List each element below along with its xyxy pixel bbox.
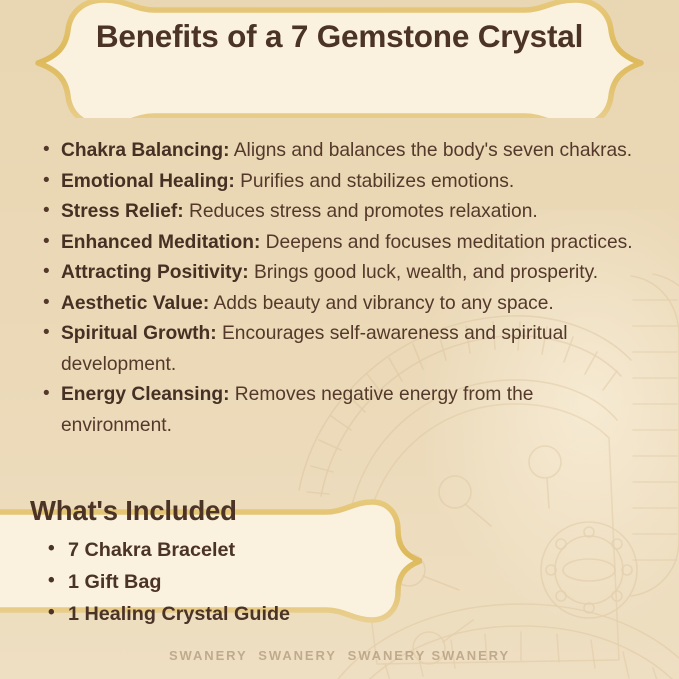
- benefit-term: Enhanced Meditation:: [61, 232, 260, 253]
- title-banner: Benefits of a 7 Gemstone Crystal: [0, 0, 679, 118]
- benefit-description: Purifies and stabilizes emotions.: [235, 171, 514, 192]
- included-heading: What's Included: [30, 495, 237, 527]
- benefit-description: Reduces stress and promotes relaxation.: [184, 201, 538, 222]
- infographic-page: Benefits of a 7 Gemstone Crystal Chakra …: [0, 0, 679, 679]
- page-title: Benefits of a 7 Gemstone Crystal: [0, 18, 679, 55]
- benefit-term: Emotional Healing:: [61, 171, 235, 192]
- included-item: 1 Healing Crystal Guide: [48, 598, 290, 630]
- benefit-item: Aesthetic Value: Adds beauty and vibranc…: [40, 289, 648, 320]
- benefit-item: Chakra Balancing: Aligns and balances th…: [40, 136, 648, 167]
- benefit-description: Aligns and balances the body's seven cha…: [229, 140, 632, 161]
- benefit-item: Stress Relief: Reduces stress and promot…: [40, 197, 648, 228]
- benefit-description: Adds beauty and vibrancy to any space.: [209, 293, 554, 314]
- benefit-term: Energy Cleansing:: [61, 384, 229, 405]
- included-content: What's Included 7 Chakra Bracelet1 Gift …: [0, 480, 400, 642]
- benefit-term: Aesthetic Value:: [61, 293, 209, 314]
- benefit-term: Attracting Positivity:: [61, 262, 249, 283]
- benefit-term: Spiritual Growth:: [61, 323, 217, 344]
- benefit-description: Deepens and focuses meditation practices…: [260, 232, 632, 253]
- benefit-item: Energy Cleansing: Removes negative energ…: [40, 380, 648, 441]
- benefit-term: Chakra Balancing:: [61, 140, 229, 161]
- included-items-list: 7 Chakra Bracelet1 Gift Bag1 Healing Cry…: [48, 534, 290, 630]
- benefit-description: Brings good luck, wealth, and prosperity…: [249, 262, 598, 283]
- benefit-item: Spiritual Growth: Encourages self-awaren…: [40, 319, 648, 380]
- benefit-item: Attracting Positivity: Brings good luck,…: [40, 258, 648, 289]
- benefit-item: Emotional Healing: Purifies and stabiliz…: [40, 167, 648, 198]
- benefit-term: Stress Relief:: [61, 201, 184, 222]
- benefit-item: Enhanced Meditation: Deepens and focuses…: [40, 228, 648, 259]
- included-item: 1 Gift Bag: [48, 566, 290, 598]
- brand-watermark: SWANERY SWANERY SWANERY SWANERY: [0, 648, 679, 663]
- included-item: 7 Chakra Bracelet: [48, 534, 290, 566]
- benefits-list: Chakra Balancing: Aligns and balances th…: [40, 136, 648, 441]
